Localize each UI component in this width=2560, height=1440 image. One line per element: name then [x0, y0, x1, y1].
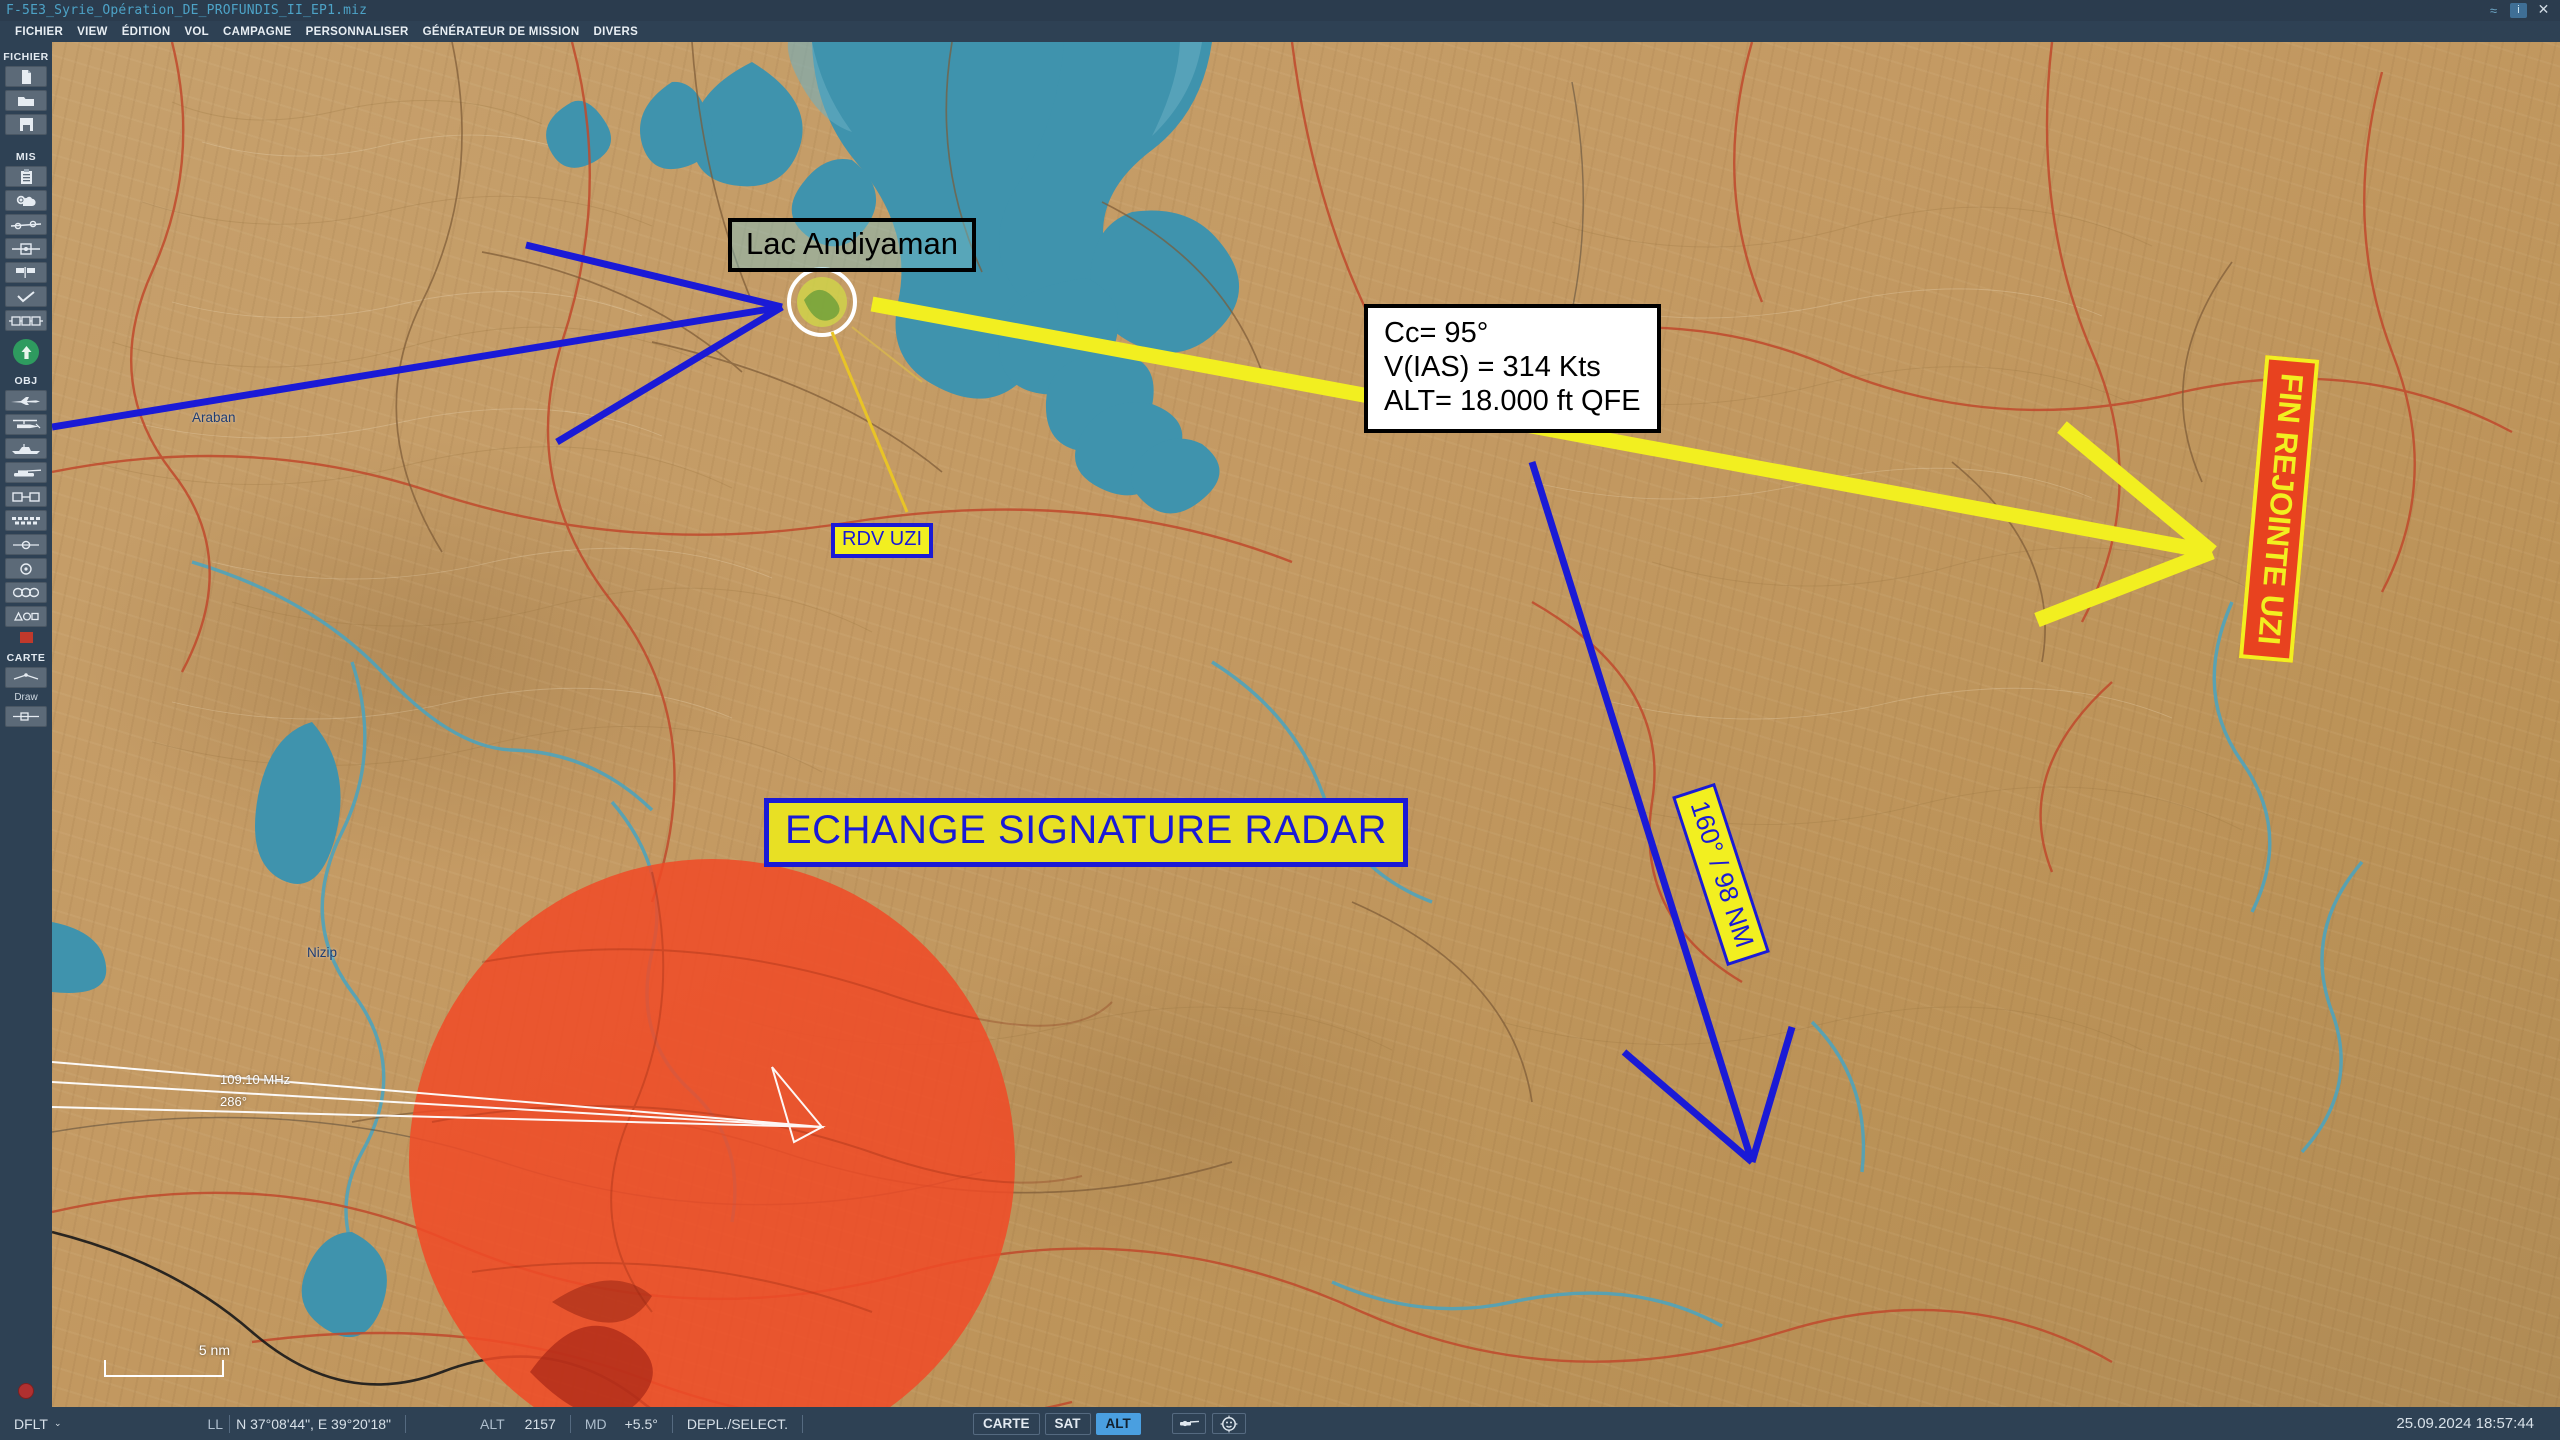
farp-icon[interactable]: [5, 558, 47, 579]
annotation-rdv-uzi[interactable]: RDV UZI: [831, 523, 933, 558]
close-icon[interactable]: ✕: [2535, 3, 2552, 18]
annotation-radar-signature-banner[interactable]: ECHANGE SIGNATURE RADAR: [764, 798, 1408, 867]
status-edit-mode: DEPL./SELECT.: [673, 1416, 802, 1432]
map-layer-toggle-alt[interactable]: ALT: [1096, 1413, 1141, 1435]
menu-item-personnaliser[interactable]: PERSONNALISER: [299, 24, 416, 40]
validate-check-icon[interactable]: [5, 286, 47, 307]
navaid-bearing-label: 286°: [220, 1094, 247, 1109]
toolbar-group-mis-label: MIS: [0, 151, 52, 163]
coordinates-system-label: LL: [208, 1416, 224, 1432]
save-disk-icon[interactable]: [5, 114, 47, 135]
draw-label: Draw: [14, 692, 37, 703]
menu-item-vol[interactable]: VOL: [177, 24, 216, 40]
trigger-zone-icon[interactable]: [5, 534, 47, 555]
coordinates-value: N 37°08'44", E 39°20'18": [236, 1416, 391, 1432]
route-ingress-arrow: [52, 245, 782, 442]
title-bar: F-5E3_Syrie_Opération_DE_PROFUNDIS_II_EP…: [0, 0, 2560, 21]
status-altitude: ALT 2157: [466, 1416, 570, 1432]
status-magnetic-declination: MD +5.5°: [571, 1416, 672, 1432]
status-profile-selector[interactable]: DFLT ⌄: [0, 1416, 76, 1432]
timeline-icon[interactable]: [5, 310, 47, 331]
map-canvas[interactable]: Araban Nizip 109.10 MHz 286° 5 nm Lac An…: [52, 42, 2560, 1407]
menu-item-divers[interactable]: DIVERS: [586, 24, 645, 40]
toolbar-group-obj-label: OBJ: [0, 375, 52, 387]
menu-item-generateur-de-mission[interactable]: GÉNÉRATEUR DE MISSION: [416, 24, 587, 40]
map-layer-toggle-sat[interactable]: SAT: [1045, 1413, 1091, 1435]
cargo-icon[interactable]: [20, 632, 33, 643]
open-folder-icon[interactable]: [5, 90, 47, 111]
coalition-flags-icon[interactable]: [5, 262, 47, 283]
status-datetime: 25.09.2024 18:57:44: [2396, 1415, 2560, 1432]
waypoint-route-icon[interactable]: [5, 214, 47, 235]
menu-item-fichier[interactable]: FICHIER: [8, 24, 70, 40]
group-objects-icon[interactable]: [5, 606, 47, 627]
declination-value: +5.5°: [625, 1416, 658, 1432]
new-mission-icon[interactable]: [5, 66, 47, 87]
chevron-down-icon: ⌄: [54, 1418, 62, 1429]
menu-item-campagne[interactable]: CAMPAGNE: [216, 24, 299, 40]
helicopter-icon[interactable]: [5, 414, 47, 435]
annotation-lake-label[interactable]: Lac Andiyaman: [728, 218, 976, 272]
map-features-layer: [52, 42, 2560, 1407]
menu-bar: FICHIER VIEW ÉDITION VOL CAMPAGNE PERSON…: [0, 21, 2560, 42]
altitude-label: ALT: [480, 1416, 505, 1432]
toolbar-group-fichier-label: FICHIER: [0, 51, 52, 63]
toolbar-group-carte-label: CARTE: [0, 652, 52, 664]
flight-param-speed: V(IAS) = 314 Kts: [1384, 350, 1641, 384]
ruler-icon[interactable]: [5, 667, 47, 688]
aircraft-icon[interactable]: [5, 390, 47, 411]
waypoint-marker: [789, 269, 855, 335]
weather-cloud-icon[interactable]: [5, 190, 47, 211]
flight-param-altitude: ALT= 18.000 ft QFE: [1384, 384, 1641, 418]
menu-item-edition[interactable]: ÉDITION: [115, 24, 178, 40]
static-structure-icon[interactable]: [5, 486, 47, 507]
mission-filename: F-5E3_Syrie_Opération_DE_PROFUNDIS_II_EP…: [0, 3, 367, 18]
info-icon[interactable]: i: [2510, 3, 2527, 18]
altitude-value: 2157: [525, 1416, 556, 1432]
threat-zone-circle: [409, 859, 1015, 1407]
annotation-flight-params[interactable]: Cc= 95° V(IAS) = 314 Kts ALT= 18.000 ft …: [1364, 304, 1661, 433]
navaid-frequency-label: 109.10 MHz: [220, 1072, 290, 1087]
map-layer-toggle-carte[interactable]: CARTE: [973, 1413, 1040, 1435]
flight-param-course: Cc= 95°: [1384, 316, 1641, 350]
draw-tools-icon[interactable]: [5, 706, 47, 727]
ship-icon[interactable]: [5, 438, 47, 459]
map-options-icon[interactable]: [1212, 1413, 1246, 1434]
wifi-icon[interactable]: ≈: [2485, 3, 2502, 18]
menu-item-view[interactable]: VIEW: [70, 24, 115, 40]
briefing-clipboard-icon[interactable]: [5, 166, 47, 187]
move-up-icon[interactable]: [13, 339, 39, 365]
circle-zone-icon[interactable]: [5, 582, 47, 603]
target-trigger-icon[interactable]: [5, 238, 47, 259]
mission-editor-window: F-5E3_Syrie_Opération_DE_PROFUNDIS_II_EP…: [0, 0, 2560, 1440]
airfield-icon[interactable]: [5, 510, 47, 531]
units-visibility-icon[interactable]: [1172, 1413, 1206, 1434]
route-egress-arrow: [1532, 462, 1792, 1162]
record-dot-icon[interactable]: [18, 1383, 34, 1399]
ground-vehicle-icon[interactable]: [5, 462, 47, 483]
status-bar: DFLT ⌄ LL N 37°08'44", E 39°20'18" ALT 2…: [0, 1407, 2560, 1440]
status-coordinates: LL N 37°08'44", E 39°20'18": [194, 1415, 406, 1433]
status-profile-label: DFLT: [14, 1416, 48, 1432]
declination-label: MD: [585, 1416, 607, 1432]
left-toolbar: FICHIER MIS: [0, 42, 52, 1407]
